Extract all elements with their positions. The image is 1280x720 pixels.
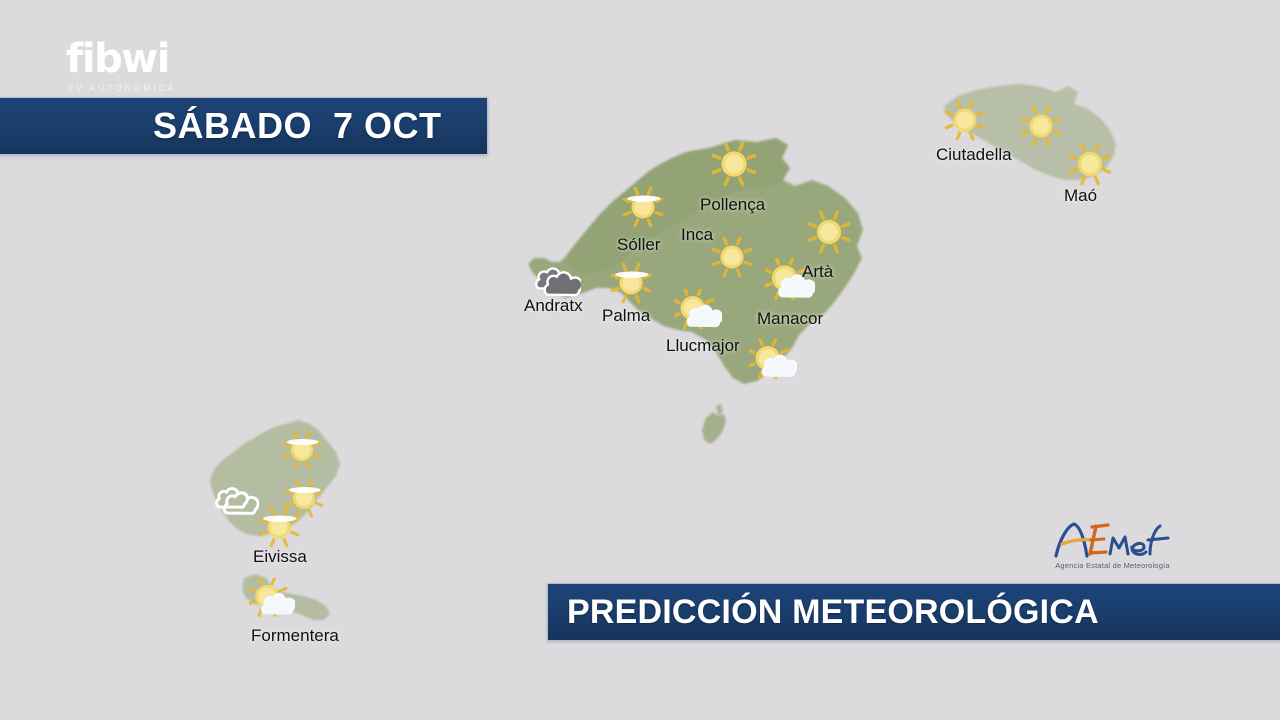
aemet-logo-mark (1050, 518, 1175, 560)
forecast-banner-text: PREDICCIÓN METEOROLÓGICA (567, 593, 1099, 632)
channel-logo-text: fibwi (66, 38, 206, 80)
city-label-andratx: Andratx (524, 296, 583, 316)
weather-icon-partly-cloudy-southeast-icon (749, 339, 797, 392)
city-label-llucmajor: Llucmajor (666, 336, 740, 356)
date-banner: SÁBADO 7 OCT (0, 97, 488, 155)
aemet-logo-subtitle: Agencia Estatal de Meteorología (1050, 561, 1175, 570)
date-banner-text: SÁBADO 7 OCT (153, 105, 442, 147)
weather-icon-sun-haze-soller-icon (622, 186, 664, 233)
weather-icon-sunny-arta-icon (807, 210, 851, 259)
channel-logo: fibwi TV AUTONOMICA (66, 38, 206, 93)
aemet-logo: Agencia Estatal de Meteorología (1050, 518, 1175, 576)
weather-icon-sunny-menorca-mid-icon (1020, 105, 1062, 152)
weather-broadcast-screen: PollençaSóllerIncaArtàAndratxPalmaManaco… (0, 0, 1280, 720)
city-label-eivissa: Eivissa (253, 547, 307, 567)
city-label-ciutadella: Ciutadella (936, 145, 1012, 165)
city-label-arta: Artà (802, 262, 833, 282)
weather-icon-sunny-mallorca-north (711, 141, 757, 192)
weather-icon-sunny-inca-icon (711, 236, 753, 283)
weather-icon-sun-haze-eivissa-north (282, 430, 322, 475)
weather-icon-partly-cloudy-formentera-icon (249, 578, 295, 629)
forecast-banner: PREDICCIÓN METEOROLÓGICA (547, 583, 1280, 641)
channel-logo-subtitle: TV AUTONOMICA (68, 83, 206, 93)
city-label-pollenca: Pollença (700, 195, 765, 215)
city-label-manacor: Manacor (757, 309, 823, 329)
weather-icon-cloud-outline-eivissa-cloud (213, 481, 259, 532)
city-label-inca: Inca (681, 225, 713, 245)
city-label-palma: Palma (602, 306, 650, 326)
weather-icon-sunny-mao-icon (1068, 142, 1112, 191)
city-label-soller: Sóller (617, 235, 660, 255)
weather-icon-sun-haze-palma-icon (610, 262, 652, 309)
weather-icon-sunny-ciutadella-icon (944, 99, 986, 146)
city-label-formentera: Formentera (251, 626, 339, 646)
weather-icon-partly-cloudy-llucmajor-icon (674, 289, 722, 342)
city-label-mao: Maó (1064, 186, 1097, 206)
weather-icon-sun-haze-eivissa-south (258, 506, 300, 553)
